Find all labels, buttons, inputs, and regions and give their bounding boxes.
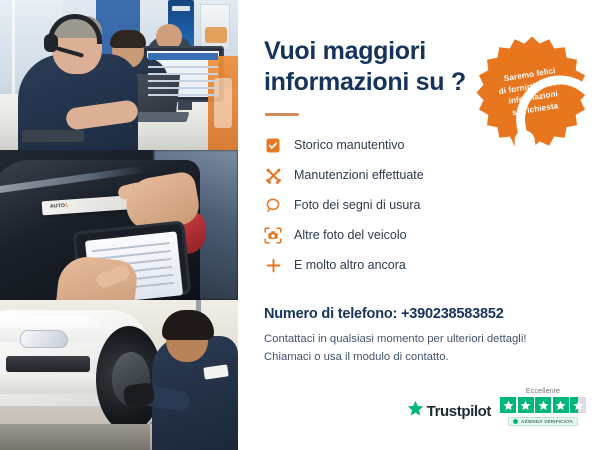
photo-column: AUTO1 [0,0,238,450]
star-icon-half [570,397,586,413]
list-item-label: Altre foto del veicolo [294,228,407,242]
vehicle-lift-platform [0,424,150,450]
contact-subtext-line1: Contattaci in qualsiasi momento per ulte… [264,331,578,349]
wall-poster [200,4,230,50]
keyboard [22,130,84,142]
car-grille [6,356,90,372]
list-item-label: Manutenzioni effettuate [294,168,424,182]
phone-line[interactable]: Numero di telefono: +390238583852 [264,306,578,322]
background-hair-2 [110,30,146,48]
star-icon [518,397,534,413]
trustpilot-name: Trustpilot [427,403,491,420]
star-icon [535,397,551,413]
list-item-label: Foto dei segni di usura [294,198,420,212]
list-item-label: Storico manutentivo [294,138,404,152]
list-item: Altre foto del veicolo [264,220,578,250]
vehicle-inspection-photo: AUTO1 [0,150,238,300]
call-center-photo [0,0,238,150]
camera-frame-icon [264,226,282,244]
magnifier-icon [264,196,282,214]
rating-label: Eccellente [526,388,560,395]
verified-check-icon [513,419,518,424]
trustpilot-widget[interactable]: Trustpilot Eccellente AZIENDA VERIFICATA [407,388,586,426]
list-item: E molto altro ancora [264,250,578,280]
plus-icon [264,256,282,274]
star-icon [500,397,516,413]
title-underline-rule [265,113,299,116]
contact-subtext-line2: Chiamaci o usa il modulo di contatto. [264,349,578,367]
promo-card: AUTO1 [0,0,600,450]
garage-lift-photo [0,300,238,450]
monitor-toolbar [148,53,218,60]
star-rating [500,397,586,413]
tools-cross-icon [264,166,282,184]
sticker-text: AUTO1 [50,203,69,210]
callout-badge: Saremo felici di fornirti queste informa… [476,34,588,146]
trustpilot-rating: Eccellente AZIENDA VERIFICATA [500,388,586,426]
list-item: Foto dei segni di usura [264,190,578,220]
verified-badge-label: AZIENDA VERIFICATA [521,419,573,424]
car-headlight [20,330,68,348]
list-item-label: E molto altro ancora [294,258,406,272]
trustpilot-star-icon [407,400,424,422]
contact-subtext: Contattaci in qualsiasi momento per ulte… [264,331,578,366]
verified-badge: AZIENDA VERIFICATA [508,417,578,426]
clipboard-check-icon [264,136,282,154]
monitor-content-rows [148,66,218,96]
page-title: Vuoi maggiori informazioni su ? [264,36,479,97]
trustpilot-logo: Trustpilot [407,400,491,426]
content-panel: Vuoi maggiori informazioni su ? Storico … [238,0,600,450]
star-icon [553,397,569,413]
